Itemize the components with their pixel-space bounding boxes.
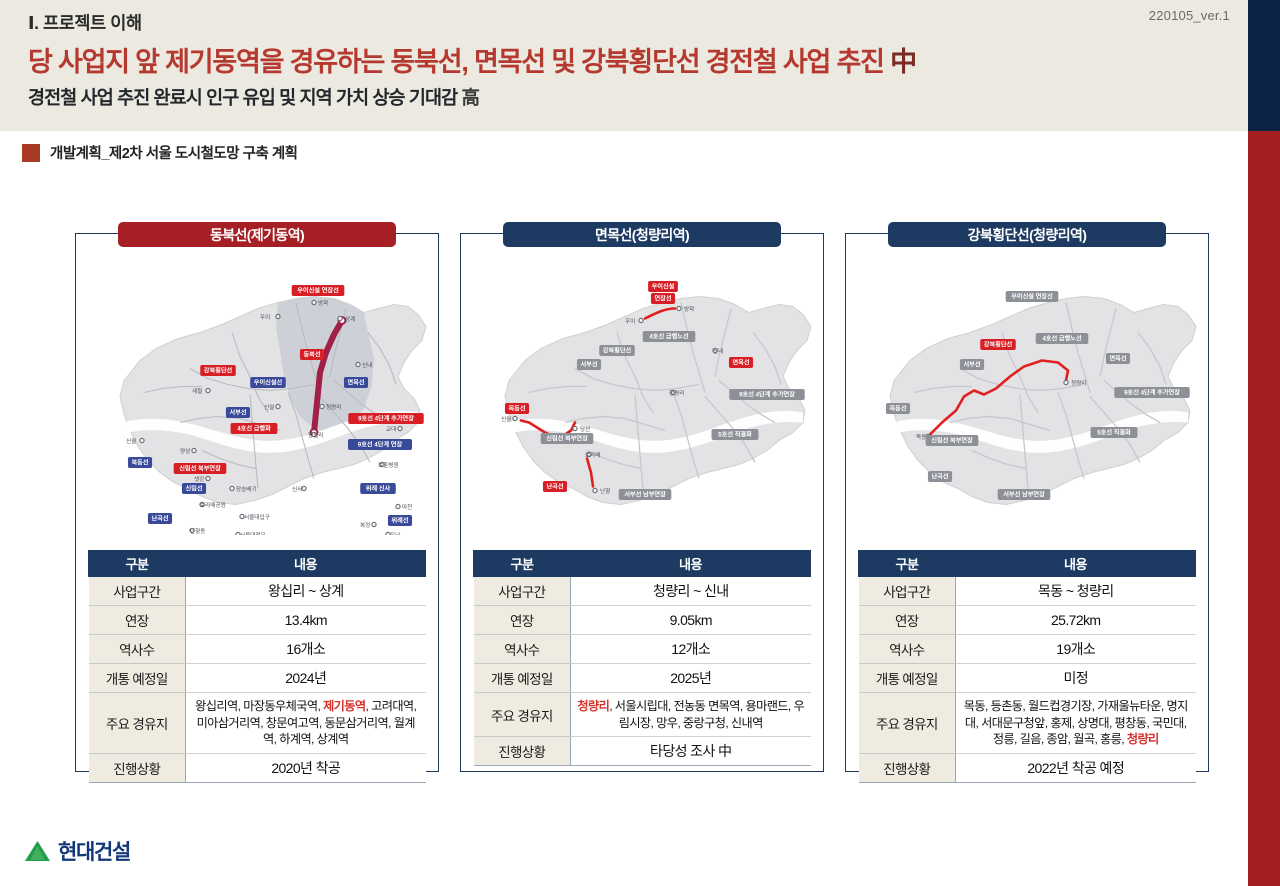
svg-text:샛강: 샛강 — [194, 475, 204, 483]
svg-text:서부선: 서부선 — [229, 409, 246, 417]
svg-text:9호선 4단계 추가연장: 9호선 4단계 추가연장 — [1124, 389, 1180, 397]
bullet-square-icon — [22, 144, 40, 162]
row-value-length: 25.72km — [956, 606, 1196, 635]
footer-logo: 현대건설 — [24, 836, 130, 866]
svg-text:장승배기: 장승배기 — [236, 485, 257, 493]
table-row: 연장25.72km — [859, 606, 1196, 635]
svg-text:강북횡단선: 강북횡단선 — [204, 367, 233, 375]
svg-text:서울대정문: 서울대정문 — [240, 531, 266, 535]
table-row: 연장13.4km — [89, 606, 426, 635]
th-category: 구분 — [474, 551, 571, 577]
route-map-gangbuk: 청량리목동우이신설 연장선4호선 급행노선강북횡단선서부선면목선목동선신림선 북… — [852, 260, 1202, 535]
th-category: 구분 — [89, 551, 186, 577]
row-label-status: 진행상황 — [474, 737, 571, 766]
svg-text:위례 신사: 위례 신사 — [366, 485, 391, 493]
svg-text:우이신설 연장선: 우이신설 연장선 — [1011, 293, 1053, 301]
svg-text:왕십리: 왕십리 — [308, 431, 323, 439]
page-title-main: 당 사업지 앞 제기동역을 경유하는 동북선, 면목선 및 강북횡단선 경전철 … — [28, 47, 884, 77]
table-row: 주요 경유지목동, 등촌동, 월드컵경기장, 가재울뉴타운, 명지대, 서대문구… — [859, 693, 1196, 754]
svg-text:목동선: 목동선 — [508, 405, 525, 413]
svg-text:신림선 북부연장: 신림선 북부연장 — [179, 465, 221, 473]
svg-text:우남: 우남 — [390, 531, 400, 535]
svg-text:강북횡단선: 강북횡단선 — [984, 341, 1013, 349]
card-title-tab: 동북선(제기동역) — [118, 222, 396, 247]
svg-text:난향: 난향 — [600, 487, 610, 495]
svg-text:당산: 당산 — [580, 425, 590, 433]
table-row: 역사수19개소 — [859, 635, 1196, 664]
svg-text:난곡선: 난곡선 — [151, 515, 168, 523]
svg-text:목동: 목동 — [916, 434, 926, 441]
table-row: 진행상황2020년 착공 — [89, 753, 426, 782]
svg-text:서부선: 서부선 — [963, 361, 980, 369]
seoul-map-svg: 우이방학신내청량리신월당산보라매난향우이신설연장선4호선 급행노선강북횡단선서부… — [467, 260, 817, 535]
svg-text:신월: 신월 — [501, 415, 511, 423]
svg-text:5호선 직결화: 5호선 직결화 — [718, 431, 752, 439]
edge-bar-crimson — [1248, 131, 1280, 886]
row-label-stations: 역사수 — [474, 635, 571, 664]
svg-text:새절: 새절 — [192, 387, 202, 395]
row-label-route: 주요 경유지 — [89, 693, 186, 754]
project-card: 강북횡단선(청량리역) 청량리목동우이신설 연장선4호선 급행노선강북횡단선서부… — [845, 233, 1209, 772]
row-value-length: 13.4km — [186, 606, 426, 635]
svg-text:신림선 북부연장: 신림선 북부연장 — [546, 435, 588, 443]
section-label-text: 개발계획_제2차 서울 도시철도망 구축 계획 — [50, 142, 298, 163]
project-card: 동북선(제기동역) 우이방학상계신내새절신설청량리왕십리신월양상샛강장승배기보라… — [75, 233, 439, 772]
row-label-status: 진행상황 — [89, 753, 186, 782]
row-value-stations: 16개소 — [186, 635, 426, 664]
svg-text:신월: 신월 — [126, 437, 136, 445]
svg-text:난곡선: 난곡선 — [546, 483, 563, 491]
row-value-length: 9.05km — [571, 606, 811, 635]
slide: 220105_ver.1 Ⅰ. 프로젝트 이해 당 사업지 앞 제기동역을 경유… — [0, 0, 1280, 886]
svg-text:동북선: 동북선 — [303, 351, 320, 359]
route-text: 왕십리역, 마장동우체국역, — [195, 699, 323, 713]
page-title: 당 사업지 앞 제기동역을 경유하는 동북선, 면목선 및 강북횡단선 경전철 … — [28, 40, 916, 79]
row-value-route: 청량리, 서울시립대, 전농동 면목역, 용마랜드, 우림시장, 망우, 중랑구… — [571, 693, 811, 737]
svg-text:양상: 양상 — [180, 447, 190, 455]
row-value-status: 2022년 착공 예정 — [956, 753, 1196, 782]
row-value-stations: 12개소 — [571, 635, 811, 664]
route-map-myeonmok: 우이방학신내청량리신월당산보라매난향우이신설연장선4호선 급행노선강북횡단선서부… — [467, 260, 817, 535]
svg-text:신림선 북부연장: 신림선 북부연장 — [931, 437, 973, 445]
svg-text:9호선 4단계 연장: 9호선 4단계 연장 — [358, 441, 403, 449]
card-title-tab: 면목선(청량리역) — [503, 222, 781, 247]
th-content: 내용 — [956, 551, 1196, 577]
row-label-stations: 역사수 — [89, 635, 186, 664]
section-label: 개발계획_제2차 서울 도시철도망 구축 계획 — [22, 142, 298, 163]
table-row: 사업구간왕십리 ~ 상계 — [89, 577, 426, 606]
svg-text:강북횡단선: 강북횡단선 — [603, 347, 632, 355]
svg-text:복정: 복정 — [360, 522, 370, 529]
row-label-opening: 개통 예정일 — [474, 664, 571, 693]
row-label-route: 주요 경유지 — [859, 693, 956, 754]
svg-text:서부선: 서부선 — [580, 361, 597, 369]
page-title-suffix: 中 — [890, 47, 916, 77]
table-row: 역사수12개소 — [474, 635, 811, 664]
page-subtitle: 경전철 사업 추진 완료시 인구 유입 및 지역 가치 상승 기대감 高 — [28, 84, 479, 110]
svg-text:신내: 신내 — [713, 347, 723, 355]
svg-text:청량리: 청량리 — [1071, 379, 1086, 387]
svg-text:보훈병원: 보훈병원 — [378, 461, 399, 469]
seoul-map-svg: 청량리목동우이신설 연장선4호선 급행노선강북횡단선서부선면목선목동선신림선 북… — [852, 260, 1202, 535]
row-value-status: 2020년 착공 — [186, 753, 426, 782]
row-value-stations: 19개소 — [956, 635, 1196, 664]
section-kicker: Ⅰ. 프로젝트 이해 — [28, 10, 142, 35]
project-card: 면목선(청량리역) 우이방학신내청량리신월당산보라매난향우이신설연장선4호선 급… — [460, 233, 824, 772]
svg-text:우이신설 연장선: 우이신설 연장선 — [297, 287, 339, 295]
row-label-opening: 개통 예정일 — [859, 664, 956, 693]
row-value-section: 왕십리 ~ 상계 — [186, 577, 426, 606]
th-content: 내용 — [571, 551, 811, 577]
svg-text:방학: 방학 — [684, 305, 694, 313]
svg-text:위례선: 위례선 — [391, 517, 408, 525]
svg-text:9호선 4단계 추가연장: 9호선 4단계 추가연장 — [358, 415, 414, 423]
svg-text:신사: 신사 — [292, 485, 302, 493]
svg-text:보라매: 보라매 — [585, 451, 600, 459]
project-table: 구분 내용 사업구간목동 ~ 청량리 연장25.72km 역사수19개소 개통 … — [858, 550, 1196, 783]
row-label-stations: 역사수 — [859, 635, 956, 664]
svg-text:청량리: 청량리 — [669, 389, 684, 397]
table-row: 개통 예정일2025년 — [474, 664, 811, 693]
table-row: 개통 예정일미정 — [859, 664, 1196, 693]
svg-text:목동선: 목동선 — [889, 405, 906, 413]
row-value-opening: 미정 — [956, 664, 1196, 693]
svg-text:상계: 상계 — [345, 315, 355, 323]
svg-text:서부선 남부연장: 서부선 남부연장 — [1003, 491, 1045, 499]
table-row: 진행상황2022년 착공 예정 — [859, 753, 1196, 782]
triangle-icon — [24, 839, 51, 863]
svg-text:면목선: 면목선 — [732, 359, 749, 367]
row-value-route: 왕십리역, 마장동우체국역, 제기동역, 고려대역, 미아삼거리역, 창문여고역… — [186, 693, 426, 754]
row-label-length: 연장 — [89, 606, 186, 635]
svg-text:연장선: 연장선 — [654, 295, 671, 303]
svg-text:우이: 우이 — [260, 313, 270, 321]
svg-text:난향동: 난향동 — [190, 527, 205, 535]
row-label-length: 연장 — [859, 606, 956, 635]
row-label-opening: 개통 예정일 — [89, 664, 186, 693]
svg-text:서부선 남부연장: 서부선 남부연장 — [624, 491, 666, 499]
row-label-route: 주요 경유지 — [474, 693, 571, 737]
row-value-section: 청량리 ~ 신내 — [571, 577, 811, 606]
table-row: 사업구간청량리 ~ 신내 — [474, 577, 811, 606]
row-label-section: 사업구간 — [474, 577, 571, 606]
th-content: 내용 — [186, 551, 426, 577]
row-label-length: 연장 — [474, 606, 571, 635]
page-subtitle-suffix: 高 — [462, 87, 480, 108]
svg-text:마천: 마천 — [402, 503, 412, 511]
svg-text:4호선 급행노선: 4호선 급행노선 — [1042, 335, 1082, 343]
svg-text:신설: 신설 — [264, 403, 274, 411]
row-value-opening: 2025년 — [571, 664, 811, 693]
svg-text:청량리: 청량리 — [326, 403, 341, 411]
svg-text:면목선: 면목선 — [1109, 355, 1126, 363]
row-value-section: 목동 ~ 청량리 — [956, 577, 1196, 606]
version-label: 220105_ver.1 — [1149, 8, 1230, 23]
card-title-tab: 강북횡단선(청량리역) — [888, 222, 1166, 247]
row-value-route: 목동, 등촌동, 월드컵경기장, 가재울뉴타운, 명지대, 서대문구청앞, 홍제… — [956, 693, 1196, 754]
table-row: 개통 예정일2024년 — [89, 664, 426, 693]
th-category: 구분 — [859, 551, 956, 577]
svg-text:5호선 직결화: 5호선 직결화 — [1097, 429, 1131, 437]
project-table: 구분 내용 사업구간왕십리 ~ 상계 연장13.4km 역사수16개소 개통 예… — [88, 550, 426, 783]
svg-text:신림선: 신림선 — [185, 485, 202, 493]
page-subtitle-main: 경전철 사업 추진 완료시 인구 유입 및 지역 가치 상승 기대감 — [28, 87, 457, 108]
slide-header: 220105_ver.1 Ⅰ. 프로젝트 이해 당 사업지 앞 제기동역을 경유… — [0, 0, 1248, 131]
edge-bar-navy — [1248, 0, 1280, 131]
row-label-status: 진행상황 — [859, 753, 956, 782]
table-row: 사업구간목동 ~ 청량리 — [859, 577, 1196, 606]
table-row: 연장9.05km — [474, 606, 811, 635]
route-map-dongbuk: 우이방학상계신내새절신설청량리왕십리신월양상샛강장승배기보라매공원서울대입구난향… — [82, 260, 432, 535]
route-highlight: 제기동역 — [323, 699, 365, 713]
svg-text:북동선: 북동선 — [131, 459, 148, 467]
route-text: , 서울시립대, 전농동 면목역, 용마랜드, 우림시장, 망우, 중랑구청, … — [609, 699, 804, 730]
row-label-section: 사업구간 — [89, 577, 186, 606]
svg-text:신내: 신내 — [362, 361, 372, 369]
svg-text:방학: 방학 — [318, 299, 328, 307]
svg-text:9호선 4단계 추가연장: 9호선 4단계 추가연장 — [739, 391, 795, 399]
route-highlight: 청량리 — [577, 699, 609, 713]
company-name: 현대건설 — [58, 836, 130, 866]
table-row: 주요 경유지청량리, 서울시립대, 전농동 면목역, 용마랜드, 우림시장, 망… — [474, 693, 811, 737]
svg-text:서울대입구: 서울대입구 — [244, 513, 270, 521]
svg-text:보라매공원: 보라매공원 — [200, 501, 226, 509]
svg-text:교대: 교대 — [386, 425, 396, 433]
route-highlight: 청량리 — [1127, 732, 1159, 746]
svg-text:우이: 우이 — [625, 317, 635, 325]
svg-text:4호선 급행노선: 4호선 급행노선 — [649, 333, 689, 341]
svg-text:우이신설: 우이신설 — [652, 283, 675, 291]
row-value-opening: 2024년 — [186, 664, 426, 693]
row-label-section: 사업구간 — [859, 577, 956, 606]
svg-text:면목선: 면목선 — [347, 379, 364, 387]
table-row: 주요 경유지왕십리역, 마장동우체국역, 제기동역, 고려대역, 미아삼거리역,… — [89, 693, 426, 754]
svg-text:우이신설선: 우이신설선 — [254, 379, 283, 387]
table-row: 진행상황타당성 조사 中 — [474, 737, 811, 766]
project-table: 구분 내용 사업구간청량리 ~ 신내 연장9.05km 역사수12개소 개통 예… — [473, 550, 811, 766]
svg-text:4호선 급행화: 4호선 급행화 — [237, 425, 271, 433]
seoul-map-svg: 우이방학상계신내새절신설청량리왕십리신월양상샛강장승배기보라매공원서울대입구난향… — [82, 260, 432, 535]
table-row: 역사수16개소 — [89, 635, 426, 664]
row-value-status: 타당성 조사 中 — [571, 737, 811, 766]
svg-text:난곡선: 난곡선 — [931, 473, 948, 481]
